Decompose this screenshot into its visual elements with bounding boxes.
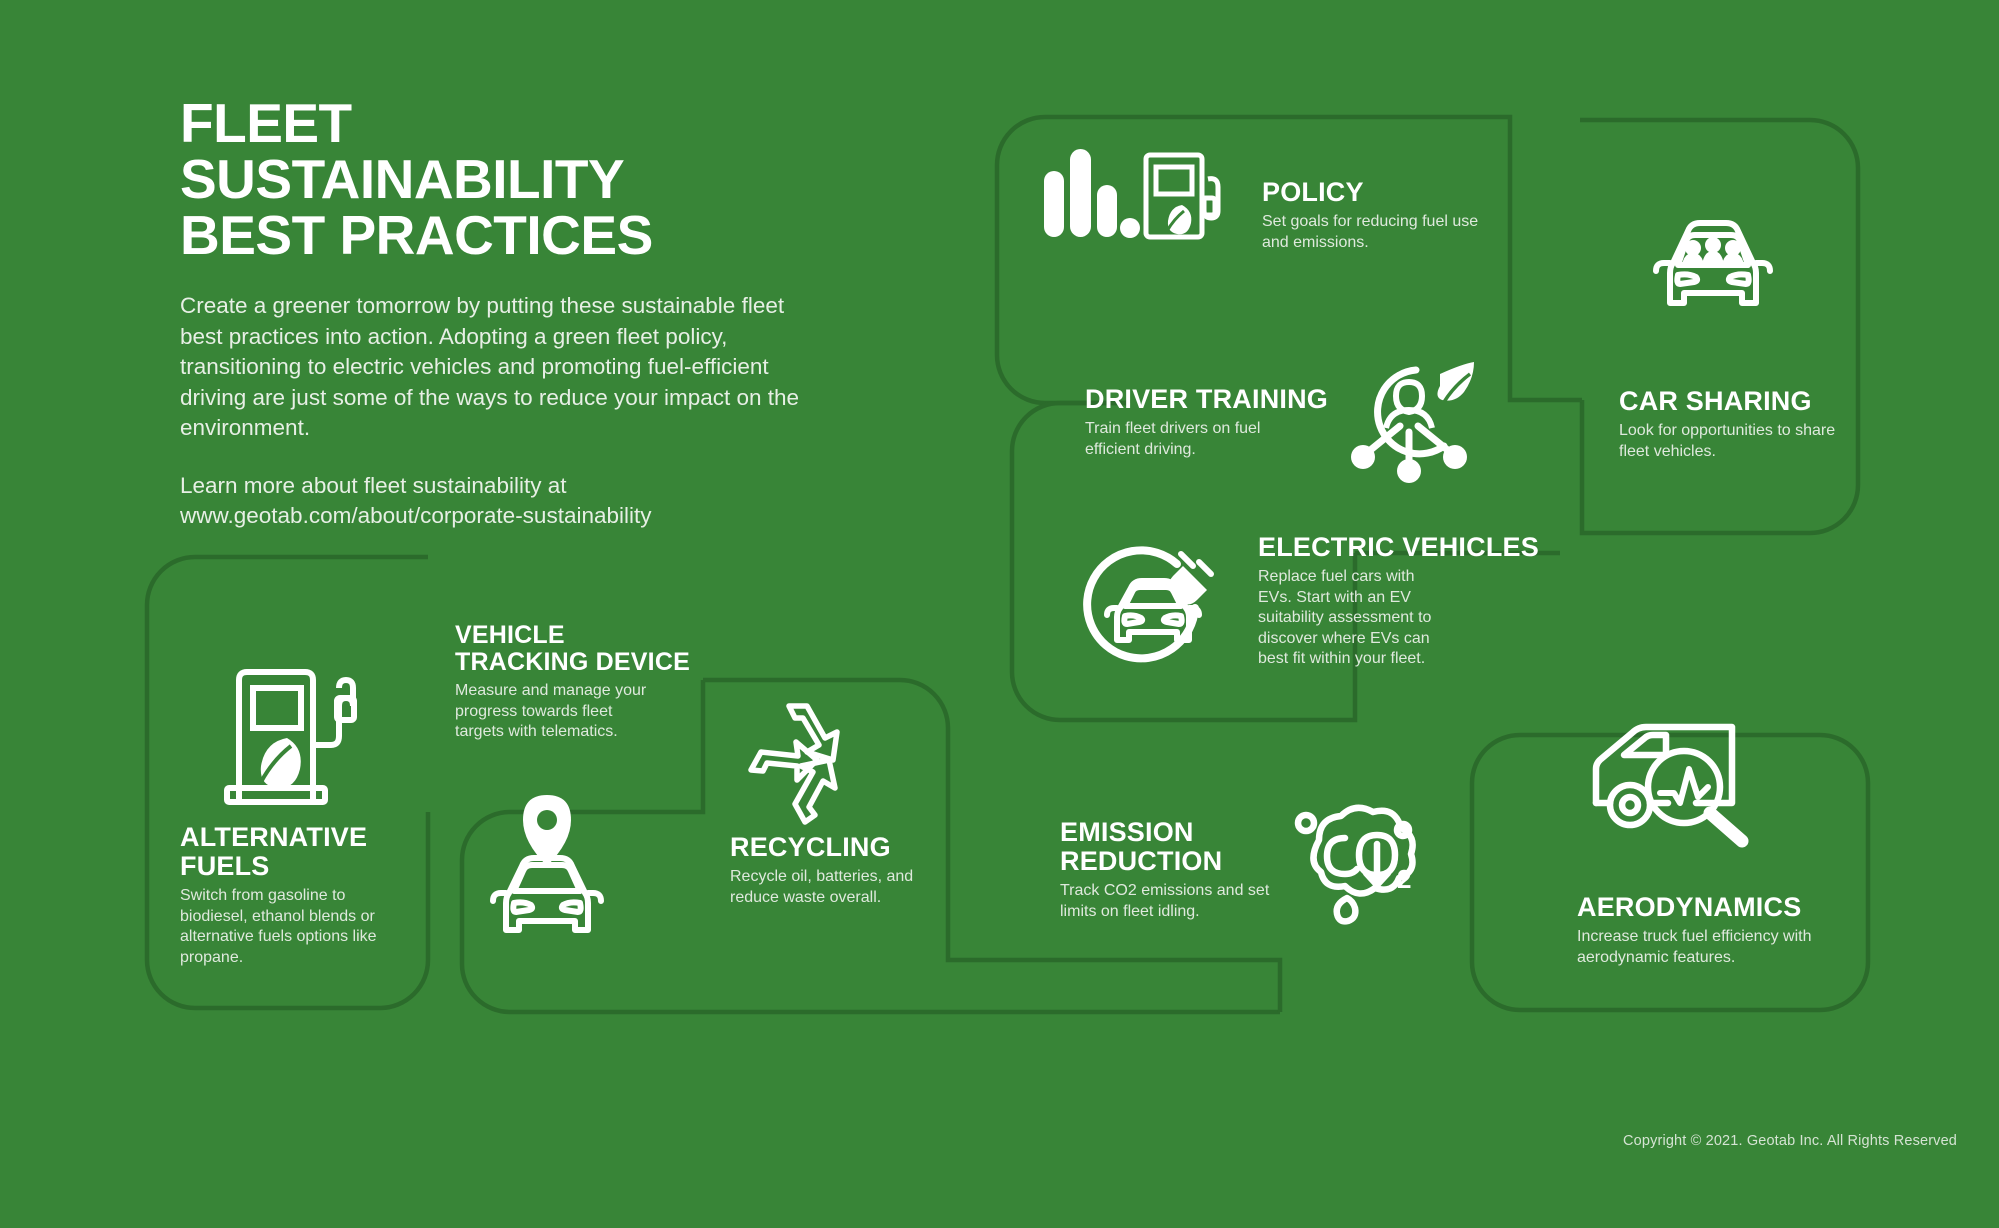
driver-training-heading: DRIVER TRAINING	[1085, 385, 1355, 414]
practice-alternative-fuels: ALTERNATIVE FUELS Switch from gasoline t…	[180, 823, 420, 968]
policy-description: Set goals for reducing fuel use and emis…	[1262, 212, 1482, 253]
aerodynamics-heading: AERODYNAMICS	[1577, 893, 1832, 922]
connector-car-sharing-cell	[1580, 120, 1858, 533]
practice-emission-reduction: EMISSION REDUCTION Track CO2 emissions a…	[1060, 818, 1290, 922]
alternative-fuels-description: Switch from gasoline to biodiesel, ethan…	[180, 886, 385, 968]
practice-aerodynamics: AERODYNAMICS Increase truck fuel efficie…	[1577, 893, 1832, 968]
car-sharing-heading: CAR SHARING	[1619, 387, 1849, 416]
vehicle-tracking-heading: VEHICLE TRACKING DEVICE	[455, 622, 735, 676]
electric-vehicles-heading: ELECTRIC VEHICLES	[1258, 533, 1498, 562]
recycling-description: Recycle oil, batteries, and reduce waste…	[730, 867, 945, 908]
fuel-pump-leaf-icon	[213, 650, 368, 805]
electric-vehicles-description: Replace fuel cars with EVs. Start with a…	[1258, 567, 1443, 670]
aerodynamics-description: Increase truck fuel efficiency with aero…	[1577, 927, 1832, 968]
copyright-notice: Copyright © 2021. Geotab Inc. All Rights…	[1623, 1133, 1957, 1149]
svg-text:2: 2	[1397, 864, 1411, 894]
infographic-canvas: FLEET SUSTAINABILITY BEST PRACTICES Crea…	[0, 0, 1999, 1228]
car-map-pin-icon	[480, 793, 615, 938]
emission-reduction-description: Track CO2 emissions and set limits on fl…	[1060, 881, 1290, 922]
vehicle-tracking-heading-line-2: TRACKING DEVICE	[455, 648, 690, 676]
driver-network-leaf-icon	[1340, 358, 1480, 488]
bar-chart-fuel-pump-leaf-icon	[1042, 145, 1232, 240]
intro-paragraph-2: Learn more about fleet sustainability at…	[180, 471, 800, 532]
emission-reduction-heading-line-2: REDUCTION	[1060, 846, 1222, 876]
alternative-fuels-heading: ALTERNATIVE FUELS	[180, 823, 420, 881]
driver-training-description: Train fleet drivers on fuel efficient dr…	[1085, 419, 1280, 460]
intro-paragraph-1: Create a greener tomorrow by putting the…	[180, 291, 800, 444]
intro-copy: Create a greener tomorrow by putting the…	[180, 291, 800, 532]
emission-reduction-heading-line-1: EMISSION	[1060, 817, 1194, 847]
learn-more-url[interactable]: www.geotab.com/about/corporate-sustainab…	[180, 503, 652, 528]
recycling-arrows-icon	[745, 700, 870, 825]
car-sharing-description: Look for opportunities to share fleet ve…	[1619, 421, 1849, 462]
practice-policy: POLICY Set goals for reducing fuel use a…	[1262, 178, 1482, 253]
vehicle-tracking-heading-line-1: VEHICLE	[455, 621, 565, 649]
vehicle-tracking-description: Measure and manage your progress towards…	[455, 681, 665, 743]
learn-more-line-1: Learn more about fleet sustainability at	[180, 473, 566, 498]
ev-car-plug-icon	[1085, 548, 1225, 678]
emission-reduction-heading: EMISSION REDUCTION	[1060, 818, 1290, 876]
page-title: FLEET SUSTAINABILITY BEST PRACTICES	[180, 95, 800, 263]
recycling-heading: RECYCLING	[730, 833, 945, 862]
practice-car-sharing: CAR SHARING Look for opportunities to sh…	[1619, 387, 1849, 462]
co2-cloud-down-arrow-icon: 2	[1285, 800, 1425, 925]
connector-mid-link	[1510, 214, 1582, 400]
title-line-1: FLEET SUSTAINABILITY	[180, 92, 624, 210]
alternative-fuels-heading-line-1: ALTERNATIVE	[180, 822, 367, 852]
truck-magnifier-icon	[1588, 717, 1763, 847]
car-with-passengers-icon	[1648, 215, 1778, 325]
intro-block: FLEET SUSTAINABILITY BEST PRACTICES Crea…	[180, 95, 800, 532]
policy-heading: POLICY	[1262, 178, 1482, 207]
practice-recycling: RECYCLING Recycle oil, batteries, and re…	[730, 833, 945, 908]
alternative-fuels-heading-line-2: FUELS	[180, 851, 270, 881]
title-line-2: BEST PRACTICES	[180, 207, 800, 263]
practice-vehicle-tracking-device: VEHICLE TRACKING DEVICE Measure and mana…	[455, 622, 735, 743]
practice-electric-vehicles: ELECTRIC VEHICLES Replace fuel cars with…	[1258, 533, 1498, 670]
practice-driver-training: DRIVER TRAINING Train fleet drivers on f…	[1085, 385, 1355, 460]
